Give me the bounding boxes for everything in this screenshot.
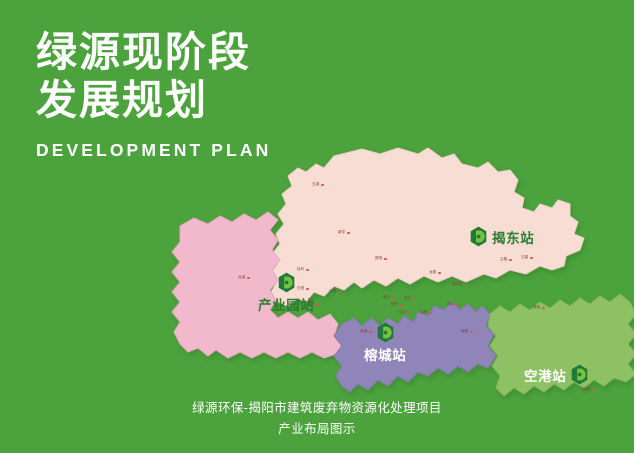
town-dot-icon bbox=[465, 284, 467, 286]
town-dot-icon bbox=[530, 257, 532, 259]
town-label-text: 玉窖 bbox=[521, 256, 528, 260]
town-label: 登岗 bbox=[533, 306, 545, 310]
station-marker-chanyeyuan[interactable]: 产业园站 bbox=[258, 272, 314, 314]
hexagon-marker-icon bbox=[470, 226, 487, 247]
town-label-text: 地都 bbox=[461, 330, 468, 334]
town-dot-icon bbox=[592, 389, 594, 391]
town-label: 锡场 bbox=[375, 257, 387, 261]
town-label-text: 磐东 bbox=[383, 296, 390, 300]
town-label-text: 龙溪 bbox=[238, 276, 245, 280]
town-label: 炮台 bbox=[583, 388, 595, 392]
town-label: 仙桥 bbox=[420, 311, 432, 315]
town-label: 新兴 bbox=[404, 297, 416, 301]
town-dot-icon bbox=[408, 312, 410, 314]
title-block: 绿源现阶段 发展规划 DEVELOPMENT PLAN bbox=[36, 28, 366, 161]
town-dot-icon bbox=[392, 297, 394, 299]
map-region-rongcheng[interactable] bbox=[334, 302, 496, 392]
page-title-line2: 发展规划 bbox=[36, 76, 366, 124]
station-marker-jiedong[interactable]: 揭东站 bbox=[470, 226, 534, 247]
town-label: 磐东 bbox=[383, 296, 395, 300]
town-label-text: 新亨 bbox=[338, 231, 345, 235]
town-dot-icon bbox=[413, 298, 415, 300]
caption-line2: 产业布局图示 bbox=[0, 419, 634, 440]
caption-block: 绿源环保-揭阳市建筑废弃物资源化处理项目 产业布局图示 bbox=[0, 398, 634, 441]
town-label-text: 梅云 bbox=[447, 303, 454, 307]
station-label-jiedong: 揭东站 bbox=[492, 227, 534, 247]
town-dot-icon bbox=[321, 184, 323, 186]
town-dot-icon bbox=[306, 269, 308, 271]
town-label-text: 中山 bbox=[399, 311, 406, 315]
town-label-text: 云路 bbox=[500, 258, 507, 262]
town-dot-icon bbox=[347, 232, 349, 234]
town-dot-icon bbox=[316, 304, 318, 306]
town-label: 榕东 bbox=[391, 303, 403, 307]
station-label-chanyeyuan: 产业园站 bbox=[258, 294, 314, 314]
station-label-rongcheng: 榕城站 bbox=[364, 344, 406, 364]
town-label: 地都 bbox=[461, 330, 473, 334]
town-label: 揭东区 bbox=[452, 283, 467, 287]
town-label: 玉湖 bbox=[312, 183, 324, 187]
hexagon-marker-icon bbox=[278, 272, 295, 293]
town-label-text: 仙桥 bbox=[420, 311, 427, 315]
hexagon-marker-icon bbox=[571, 364, 588, 385]
town-label: 龙溪 bbox=[238, 276, 250, 280]
town-dot-icon bbox=[456, 304, 458, 306]
town-label-text: 揭东区 bbox=[452, 283, 463, 287]
station-label-kongang: 空港站 bbox=[524, 365, 566, 385]
town-dot-icon bbox=[542, 307, 544, 309]
town-label-text: 登岗 bbox=[533, 306, 540, 310]
town-label-text: 龙尾 bbox=[429, 271, 436, 275]
town-dot-icon bbox=[509, 259, 511, 261]
town-label: 新亨 bbox=[338, 231, 350, 235]
page-title-line1: 绿源现阶段 bbox=[36, 28, 366, 76]
hexagon-marker-icon bbox=[377, 322, 394, 343]
town-label: 梅云 bbox=[447, 303, 459, 307]
town-dot-icon bbox=[438, 272, 440, 274]
poster-root: 绿源现阶段 发展规划 DEVELOPMENT PLAN bbox=[0, 0, 634, 453]
town-dot-icon bbox=[470, 331, 472, 333]
town-label: 中山 bbox=[399, 311, 411, 315]
town-label: 云路 bbox=[500, 258, 512, 262]
town-label-text: 炮台 bbox=[583, 388, 590, 392]
town-label-text: 新兴 bbox=[404, 297, 411, 301]
town-label-text: 榕东 bbox=[391, 303, 398, 307]
town-dot-icon bbox=[429, 312, 431, 314]
station-marker-kongang[interactable]: 空港站 bbox=[524, 364, 588, 385]
town-dot-icon bbox=[400, 304, 402, 306]
station-marker-rongcheng[interactable]: 榕城站 bbox=[364, 322, 406, 364]
town-label: 月城 bbox=[329, 290, 341, 294]
town-label-text: 锡场 bbox=[375, 257, 382, 261]
caption-line1: 绿源环保-揭阳市建筑废弃物资源化处理项目 bbox=[0, 398, 634, 419]
map-region-jiedong[interactable] bbox=[270, 148, 584, 306]
town-dot-icon bbox=[247, 277, 249, 279]
town-dot-icon bbox=[384, 258, 386, 260]
town-label: 玉窖 bbox=[521, 256, 533, 260]
town-label: 龙尾 bbox=[429, 271, 441, 275]
town-label-text: 月城 bbox=[329, 290, 336, 294]
town-label-text: 玉湖 bbox=[312, 183, 319, 187]
town-dot-icon bbox=[338, 291, 340, 293]
